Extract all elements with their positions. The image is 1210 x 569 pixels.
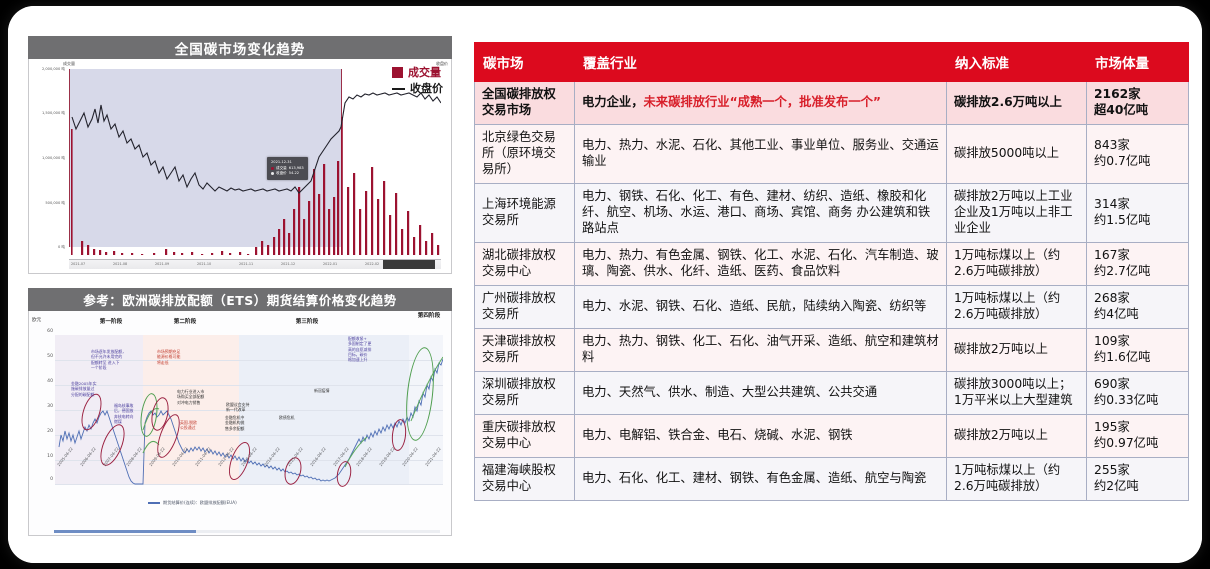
legend-label-closing-price: 收盘价 [410, 81, 443, 97]
volume-companies: 255家 [1094, 463, 1181, 479]
bottom-chart-title: 参考：欧洲碳排放配额（ETS）期货结算价格变化趋势 [28, 288, 452, 311]
top-chart-legend: 成交量 收盘价 [392, 65, 443, 97]
scrollbar-thumb[interactable] [54, 530, 196, 533]
table-row: 天津碳排放权交易所电力、热力、钢铁、化工、石化、油气开采、造纸、航空和建筑材料碳… [475, 328, 1189, 371]
y-tick: 1,500,000 吨 [42, 111, 65, 116]
legend-item-volume[interactable]: 成交量 [392, 65, 443, 81]
annotation-10: 新冠疫情 [314, 388, 330, 393]
tooltip-volume-dot [271, 167, 274, 170]
legend-item-closing-price[interactable]: 收盘价 [392, 81, 443, 97]
top-chart-plot-area: 2021-12-31 成交量 613,983 收盘价 54.22 [69, 69, 441, 255]
cell-industry: 电力、钢铁、石化、化工、有色、建材、纺织、造纸、橡胶和化纤、航空、机场、水运、港… [575, 183, 947, 242]
table-row: 重庆碳排放权交易中心电力、电解铝、铁合金、电石、烧碱、水泥、钢铁碳排放2万吨以上… [475, 414, 1189, 457]
cell-volume: 314家约1.5亿吨 [1087, 183, 1189, 242]
closing-price-line [72, 93, 441, 193]
x-tick: 2021-07 [71, 262, 85, 266]
top-chart-x-axis: 2021-07 2021-08 2021-09 2021-10 2021-11 … [69, 259, 441, 269]
volume-companies: 268家 [1094, 291, 1181, 307]
volume-swatch-icon [392, 67, 403, 78]
y-tick: 60 [47, 329, 53, 334]
cell-standard: 1万吨标煤以上（约2.6万吨碳排放） [947, 285, 1087, 328]
cell-industry: 电力企业，未来碳排放行业“成熟一个，批准发布一个” [575, 82, 947, 125]
cell-volume: 843家约0.7亿吨 [1087, 124, 1189, 183]
cell-market: 重庆碳排放权交易中心 [475, 414, 575, 457]
table-row: 上海环境能源交易所电力、钢铁、石化、化工、有色、建材、纺织、造纸、橡胶和化纤、航… [475, 183, 1189, 242]
carbon-markets-table: 碳市场 覆盖行业 纳入标准 市场体量 全国碳排放权交易市场电力企业，未来碳排放行… [474, 42, 1189, 501]
cell-volume: 268家约4亿吨 [1087, 285, 1189, 328]
eua-line-swatch-icon [148, 502, 160, 504]
volume-tonnage: 约0.33亿吨 [1094, 393, 1181, 409]
cell-industry: 电力、石化、化工、建材、钢铁、有色金属、造纸、航空与陶瓷 [575, 457, 947, 500]
y-tick: 0 [50, 477, 53, 482]
volume-tonnage: 约2亿吨 [1094, 479, 1181, 495]
cell-market: 上海环境能源交易所 [475, 183, 575, 242]
volume-tonnage: 约0.7亿吨 [1094, 154, 1181, 170]
column-header-market: 碳市场 [475, 43, 575, 82]
top-chart-y-axis: 2,000,000 吨 1,500,000 吨 1,000,000 吨 500,… [31, 67, 67, 259]
cell-industry: 电力、热力、钢铁、化工、石化、油气开采、造纸、航空和建筑材料 [575, 328, 947, 371]
cell-market: 福建海峡股权交易中心 [475, 457, 575, 500]
x-tick: 2021-08 [113, 262, 127, 266]
y-tick: 1,000,000 吨 [42, 156, 65, 161]
cell-volume: 2162家超40亿吨 [1087, 82, 1189, 125]
industry-emphasis-text: 未来碳排放行业“成熟一个，批准发布一个” [644, 95, 882, 109]
volume-tonnage: 约0.97亿吨 [1094, 436, 1181, 452]
top-chart-title: 全国碳市场变化趋势 [28, 36, 452, 59]
charts-column: 全国碳市场变化趋势 成交量 收盘价 2,000,000 吨 1,500,000 … [28, 36, 452, 536]
table-row: 深圳碳排放权交易所电力、天然气、供水、制造、大型公共建筑、公共交通碳排放3000… [475, 371, 1189, 414]
annotation-3: 市场预期充足能源价格可能将走低 [157, 349, 180, 365]
cell-standard: 1万吨标煤以上（约2.6万吨碳排放） [947, 242, 1087, 285]
volume-tonnage: 约2.7亿吨 [1094, 264, 1181, 280]
table-row: 广州碳排放权交易所电力、水泥、钢铁、石化、造纸、民航，陆续纳入陶瓷、纺织等1万吨… [475, 285, 1189, 328]
annotation-7: 福岛核事故后，德国放弃核电转向燃煤 [114, 403, 133, 424]
phase-label-4: 第四阶段 [414, 313, 444, 319]
column-header-industry: 覆盖行业 [575, 43, 947, 82]
cell-market: 天津碳排放权交易所 [475, 328, 575, 371]
table-row: 湖北碳排放权交易中心电力、热力、有色金属、钢铁、化工、水泥、石化、汽车制造、玻璃… [475, 242, 1189, 285]
column-header-standard: 纳入标准 [947, 43, 1087, 82]
column-header-volume: 市场体量 [1087, 43, 1189, 82]
bottom-chart-y-axis: 60 50 40 30 20 10 0 [33, 329, 53, 491]
x-tick: 2021-10 [197, 262, 211, 266]
annotation-6: 欧债危机 [279, 415, 295, 420]
annotation-8: 英国-脱欧公投通过 [180, 420, 197, 431]
y-tick: 50 [47, 354, 53, 359]
cell-volume: 255家约2亿吨 [1087, 457, 1189, 500]
volume-tonnage: 约1.5亿吨 [1094, 213, 1181, 229]
cell-market: 全国碳排放权交易市场 [475, 82, 575, 125]
y-tick: 40 [47, 379, 53, 384]
cell-market: 广州碳排放权交易所 [475, 285, 575, 328]
y-tick: 0 吨 [58, 245, 65, 250]
phase-label-3: 第三阶段 [277, 317, 337, 325]
volume-companies: 2162家 [1094, 87, 1181, 103]
legend-label-volume: 成交量 [408, 65, 441, 81]
bottom-chart-unit: 欧元 [32, 317, 41, 323]
slide-frame: 全国碳市场变化趋势 成交量 收盘价 2,000,000 吨 1,500,000 … [8, 6, 1202, 563]
annotation-11: 配额收紧+多国制定了更高的自愿减排目标，碳价格加速上升 [348, 336, 371, 362]
x-tick: 2021-11 [239, 262, 253, 266]
phase-label-1: 第一阶段 [81, 317, 141, 325]
x-tick: 2021-09 [155, 262, 169, 266]
slide-content: 全国碳市场变化趋势 成交量 收盘价 2,000,000 吨 1,500,000 … [8, 6, 1202, 563]
carbon-markets-table-wrapper: 碳市场 覆盖行业 纳入标准 市场体量 全国碳排放权交易市场电力企业，未来碳排放行… [474, 42, 1188, 527]
cell-standard: 碳排放2万吨以上 [947, 414, 1087, 457]
annotation-5: 金融危机中金融机构抛售多余配额 [225, 415, 244, 431]
table-header: 碳市场 覆盖行业 纳入标准 市场体量 [475, 43, 1189, 82]
volume-companies: 109家 [1094, 334, 1181, 350]
bottom-chart-legend[interactable]: 期货结算价(连续)：欧盟排放配额(EUA) [148, 500, 237, 506]
y-tick: 2,000,000 吨 [42, 67, 65, 72]
cell-standard: 碳排放2万吨以上工业企业及1万吨以上非工业企业 [947, 183, 1087, 242]
table-header-row: 碳市场 覆盖行业 纳入标准 市场体量 [475, 43, 1189, 82]
y-tick: 500,000 吨 [45, 201, 65, 206]
cell-volume: 690家约0.33亿吨 [1087, 371, 1189, 414]
annotation-2: 金融2005年实施碳排放量过分配的碳配额 [71, 381, 96, 397]
cell-industry: 电力、电解铝、铁合金、电石、烧碱、水泥、钢铁 [575, 414, 947, 457]
cell-market: 北京绿色交易所（原环境交易所） [475, 124, 575, 183]
volume-tonnage: 超40亿吨 [1094, 103, 1181, 119]
chart-tooltip: 2021-12-31 成交量 613,983 收盘价 54.22 [267, 157, 308, 180]
cell-industry: 电力、天然气、供水、制造、大型公共建筑、公共交通 [575, 371, 947, 414]
x-tick: 2022-01 [323, 262, 337, 266]
cell-market: 湖北碳排放权交易中心 [475, 242, 575, 285]
y-tick: 10 [47, 454, 53, 459]
cell-industry: 电力、热力、水泥、石化、其他工业、事业单位、服务业、交通运输业 [575, 124, 947, 183]
volume-companies: 167家 [1094, 248, 1181, 264]
volume-companies: 195家 [1094, 420, 1181, 436]
annotation-9: 欧盟议会支持新一代改革 [226, 402, 249, 413]
table-row: 北京绿色交易所（原环境交易所）电力、热力、水泥、石化、其他工业、事业单位、服务业… [475, 124, 1189, 183]
volume-bars [71, 117, 439, 255]
cell-volume: 109家约1.6亿吨 [1087, 328, 1189, 371]
national-carbon-market-chart-card: 全国碳市场变化趋势 成交量 收盘价 2,000,000 吨 1,500,000 … [28, 36, 452, 274]
y-tick: 20 [47, 429, 53, 434]
bottom-chart-body: 欧元 60 50 40 30 20 10 0 第一阶段 第二阶段 第三阶段 第四… [28, 311, 452, 536]
horizontal-scrollbar[interactable] [54, 530, 440, 533]
phase-label-2: 第二阶段 [155, 317, 215, 325]
cell-industry: 电力、水泥、钢铁、石化、造纸、民航，陆续纳入陶瓷、纺织等 [575, 285, 947, 328]
table-row: 全国碳排放权交易市场电力企业，未来碳排放行业“成熟一个，批准发布一个”碳排放2.… [475, 82, 1189, 125]
price-line-swatch-icon [392, 88, 405, 91]
cell-standard: 碳排放2万吨以上 [947, 328, 1087, 371]
annotation-4: 电力行业进入市场购买全部配额对冲电力销售 [177, 389, 204, 405]
cell-industry: 电力、热力、有色金属、钢铁、化工、水泥、石化、汽车制造、玻璃、陶瓷、供水、化纤、… [575, 242, 947, 285]
x-tick: 2022-02 [365, 262, 379, 266]
industry-text: 电力企业， [582, 95, 644, 109]
tooltip-price-label: 收盘价 [276, 171, 287, 177]
x-tick: 2021-12 [281, 262, 295, 266]
bottom-legend-label: 期货结算价(连续)：欧盟排放配额(EUA) [163, 500, 237, 506]
tooltip-row-price: 收盘价 54.22 [271, 171, 304, 177]
x-axis-range-handle[interactable] [383, 260, 435, 269]
eu-ets-chart-card: 参考：欧洲碳排放配额（ETS）期货结算价格变化趋势 欧元 60 50 40 30… [28, 288, 452, 536]
top-chart-body: 成交量 收盘价 2,000,000 吨 1,500,000 吨 1,000,00… [28, 59, 452, 274]
volume-companies: 690家 [1094, 377, 1181, 393]
cell-standard: 1万吨标煤以上（约2.6万吨碳排放） [947, 457, 1087, 500]
volume-tonnage: 约1.6亿吨 [1094, 350, 1181, 366]
tooltip-price-value: 54.22 [289, 171, 299, 177]
cell-market: 深圳碳排放权交易所 [475, 371, 575, 414]
cell-standard: 碳排放2.6万吨以上 [947, 82, 1087, 125]
cell-standard: 碳排放3000吨以上；1万平米以上大型建筑 [947, 371, 1087, 414]
tooltip-price-dot [271, 172, 274, 175]
cell-standard: 碳排放5000吨以上 [947, 124, 1087, 183]
bottom-chart-x-axis: 2005-04-22 2006-04-22 2007-04-22 2008-04… [54, 464, 442, 496]
y-tick: 30 [47, 404, 53, 409]
volume-companies: 314家 [1094, 197, 1181, 213]
annotation-1: 市场逐年发放配额，但不允许未用完的配额转至 进入下一个阶段 [91, 349, 126, 370]
table-body: 全国碳排放权交易市场电力企业，未来碳排放行业“成熟一个，批准发布一个”碳排放2.… [475, 82, 1189, 501]
top-chart-series-svg [69, 69, 441, 255]
cell-volume: 167家约2.7亿吨 [1087, 242, 1189, 285]
table-row: 福建海峡股权交易中心电力、石化、化工、建材、钢铁、有色金属、造纸、航空与陶瓷1万… [475, 457, 1189, 500]
volume-tonnage: 约4亿吨 [1094, 307, 1181, 323]
cell-volume: 195家约0.97亿吨 [1087, 414, 1189, 457]
volume-companies: 843家 [1094, 138, 1181, 154]
